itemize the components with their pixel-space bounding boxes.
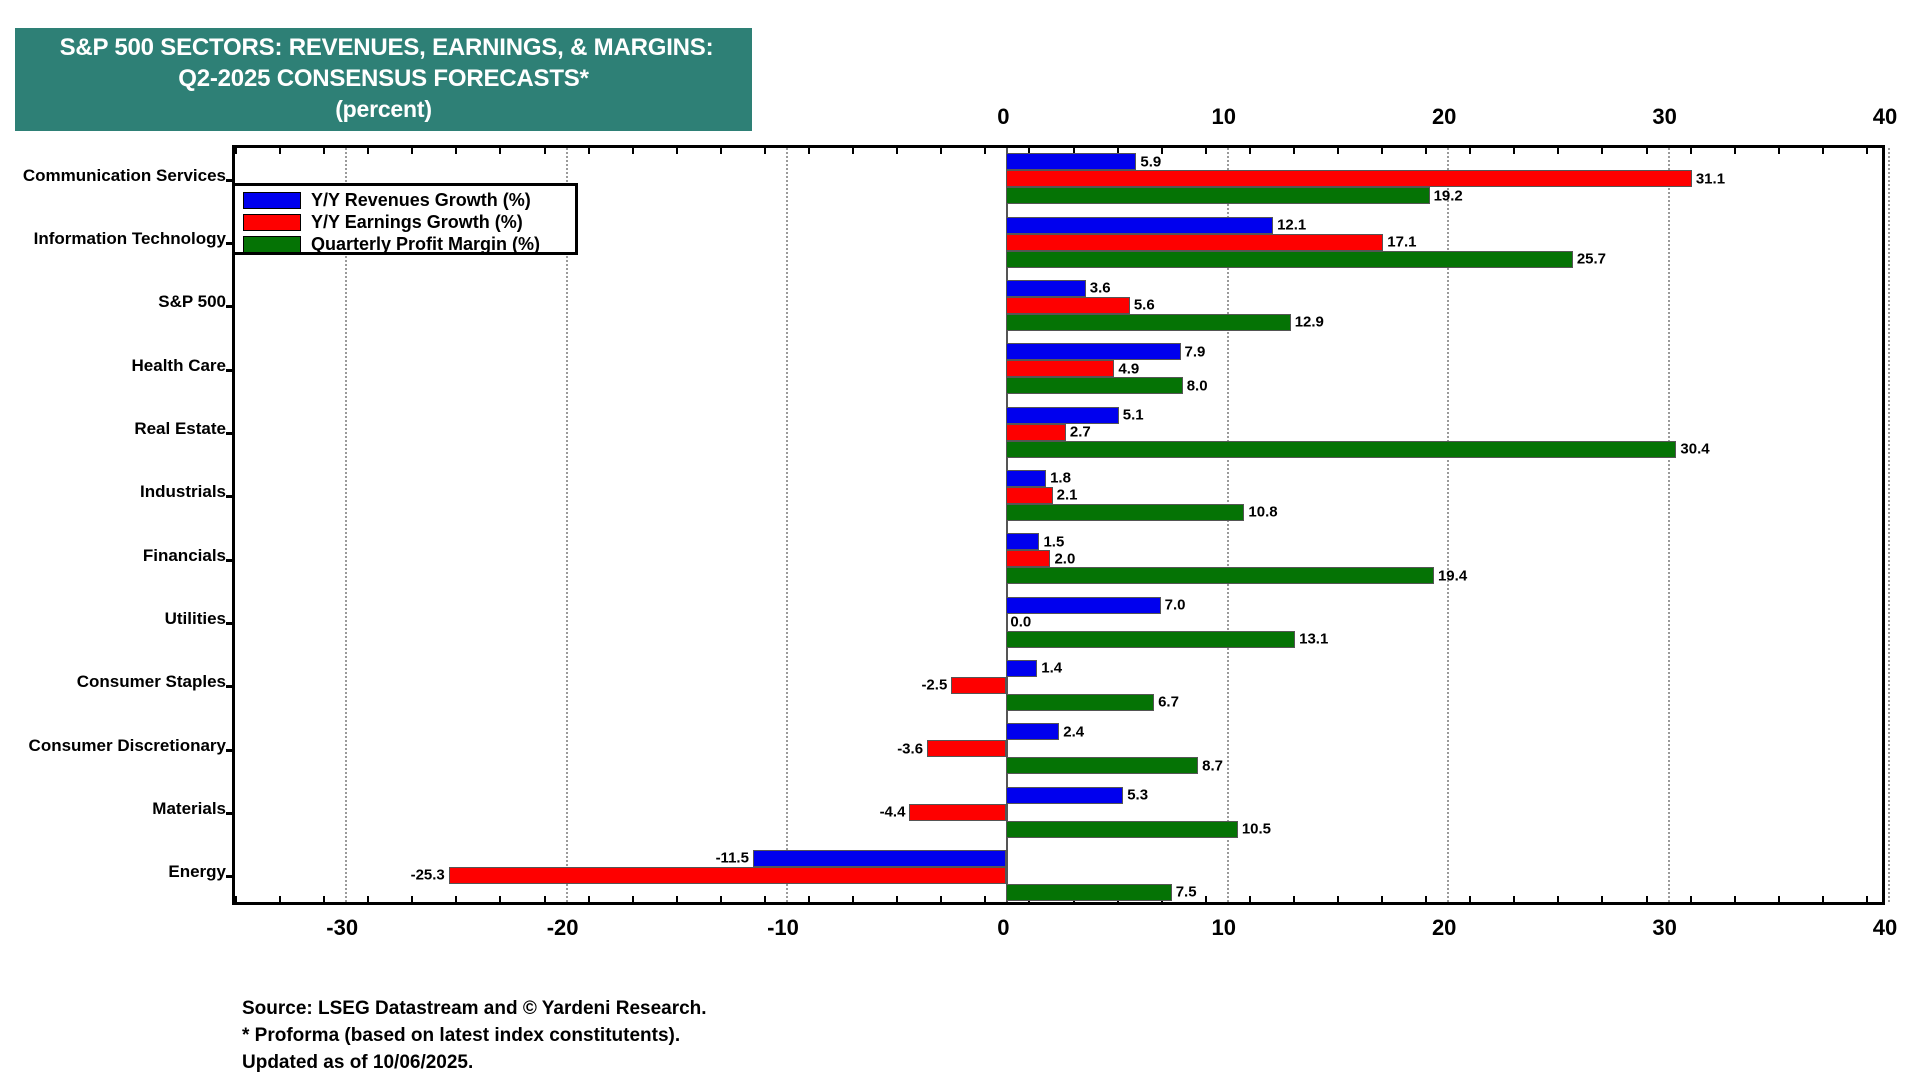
bar-value-earn-1: 17.1 xyxy=(1387,234,1416,251)
bar-rev-5 xyxy=(1006,470,1046,487)
bar-rev-10 xyxy=(1006,787,1123,804)
bar-value-earn-5: 2.1 xyxy=(1057,487,1078,504)
x-tick-top-27 xyxy=(1601,147,1603,154)
x-axis-bottom-label--20: -20 xyxy=(547,915,579,941)
bar-marg-1 xyxy=(1006,251,1572,268)
x-tick-bot--11 xyxy=(764,896,766,903)
bar-rev-8 xyxy=(1006,660,1037,677)
bar-value-earn-4: 2.7 xyxy=(1070,424,1091,441)
bar-value-rev-1: 12.1 xyxy=(1277,217,1306,234)
x-tick-top-15 xyxy=(1337,147,1339,154)
bar-marg-4 xyxy=(1006,441,1676,458)
title-subtitle-percent: (percent) xyxy=(335,94,432,125)
x-tick-top--33 xyxy=(279,147,281,154)
title-line-1: S&P 500 SECTORS: REVENUES, EARNINGS, & M… xyxy=(54,32,714,63)
x-axis-bottom-label-30: 30 xyxy=(1652,915,1676,941)
bar-rev-7 xyxy=(1006,597,1160,614)
bar-earn-8 xyxy=(951,677,1006,694)
category-tick-0 xyxy=(226,179,235,182)
x-tick-top-21 xyxy=(1469,147,1471,154)
category-tick-11 xyxy=(226,875,235,878)
bar-earn-3 xyxy=(1006,360,1114,377)
x-tick-top-9 xyxy=(1205,147,1207,154)
x-tick-bot--9 xyxy=(808,896,810,903)
category-label-financials: Financials xyxy=(0,546,226,566)
x-tick-top--1 xyxy=(984,147,986,154)
bar-marg-9 xyxy=(1006,757,1198,774)
category-tick-5 xyxy=(226,495,235,498)
category-tick-6 xyxy=(226,559,235,562)
bar-rev-3 xyxy=(1006,343,1180,360)
bar-value-earn-10: -4.4 xyxy=(880,804,906,821)
bar-value-rev-2: 3.6 xyxy=(1090,280,1111,297)
bar-earn-0 xyxy=(1006,170,1691,187)
bar-rev-1 xyxy=(1006,217,1273,234)
x-tick-top--35 xyxy=(235,147,237,154)
category-label-health-care: Health Care xyxy=(0,356,226,376)
bar-earn-6 xyxy=(1006,550,1050,567)
x-tick-bot--25 xyxy=(455,896,457,903)
category-tick-4 xyxy=(226,432,235,435)
x-tick-bot--5 xyxy=(896,896,898,903)
x-tick-bot-23 xyxy=(1513,896,1515,903)
bar-value-earn-9: -3.6 xyxy=(897,740,923,757)
bar-value-rev-9: 2.4 xyxy=(1063,723,1084,740)
bar-value-earn-0: 31.1 xyxy=(1696,170,1725,187)
bar-marg-5 xyxy=(1006,504,1244,521)
bar-value-marg-1: 25.7 xyxy=(1577,251,1606,268)
gridline--20 xyxy=(566,148,568,902)
bar-earn-2 xyxy=(1006,297,1129,314)
x-tick-top-35 xyxy=(1778,147,1780,154)
x-tick-top--31 xyxy=(323,147,325,154)
x-tick-bot--1 xyxy=(984,896,986,903)
bar-value-earn-8: -2.5 xyxy=(921,677,947,694)
x-tick-top--15 xyxy=(676,147,678,154)
bar-earn-5 xyxy=(1006,487,1052,504)
category-label-real-estate: Real Estate xyxy=(0,419,226,439)
chart-footer: Source: LSEG Datastream and © Yardeni Re… xyxy=(242,995,1142,1076)
bar-marg-7 xyxy=(1006,631,1295,648)
x-axis-bottom-label-0: 0 xyxy=(997,915,1009,941)
x-tick-top-31 xyxy=(1690,147,1692,154)
category-tick-7 xyxy=(226,622,235,625)
gridline-40 xyxy=(1888,148,1890,902)
gridline--10 xyxy=(786,148,788,902)
x-tick-top--3 xyxy=(940,147,942,154)
category-tick-8 xyxy=(226,685,235,688)
bar-value-rev-8: 1.4 xyxy=(1041,660,1062,677)
x-tick-bot--13 xyxy=(720,896,722,903)
x-tick-top--29 xyxy=(367,147,369,154)
bar-value-marg-5: 10.8 xyxy=(1248,504,1277,521)
bar-value-marg-6: 19.4 xyxy=(1438,567,1467,584)
x-tick-top-11 xyxy=(1249,147,1251,154)
bar-rev-6 xyxy=(1006,533,1039,550)
bar-rev-11 xyxy=(753,850,1006,867)
x-tick-top--19 xyxy=(588,147,590,154)
x-axis-bottom-label-20: 20 xyxy=(1432,915,1456,941)
x-axis-top-label-40: 40 xyxy=(1873,104,1897,130)
bar-earn-7 xyxy=(1006,614,1008,631)
bar-rev-4 xyxy=(1006,407,1118,424)
x-tick-bot-29 xyxy=(1646,896,1648,903)
bar-value-marg-0: 19.2 xyxy=(1434,187,1463,204)
bar-earn-4 xyxy=(1006,424,1066,441)
category-tick-9 xyxy=(226,749,235,752)
x-tick-bot-35 xyxy=(1778,896,1780,903)
bar-rev-2 xyxy=(1006,280,1085,297)
x-tick-bot--35 xyxy=(235,896,237,903)
x-tick-top--9 xyxy=(808,147,810,154)
x-tick-bot-17 xyxy=(1381,896,1383,903)
title-line-2: Q2-2025 CONSENSUS FORECASTS* xyxy=(178,63,589,94)
x-axis-top-label-30: 30 xyxy=(1652,104,1676,130)
x-tick-bot--17 xyxy=(632,896,634,903)
bar-value-earn-2: 5.6 xyxy=(1134,297,1155,314)
category-label-consumer-staples: Consumer Staples xyxy=(0,672,226,692)
x-tick-top-23 xyxy=(1513,147,1515,154)
legend-swatch-margin-icon xyxy=(243,236,301,253)
bar-value-earn-7: 0.0 xyxy=(1010,614,1031,631)
x-tick-top-25 xyxy=(1557,147,1559,154)
x-axis-top-label-0: 0 xyxy=(997,104,1009,130)
x-axis-bottom-label--30: -30 xyxy=(326,915,358,941)
bar-rev-9 xyxy=(1006,723,1059,740)
x-tick-bot--15 xyxy=(676,896,678,903)
bar-value-rev-11: -11.5 xyxy=(716,850,749,867)
x-tick-bot-39 xyxy=(1866,896,1868,903)
category-label-information-technology: Information Technology xyxy=(0,229,226,249)
x-tick-top--5 xyxy=(896,147,898,154)
x-tick-bot-33 xyxy=(1734,896,1736,903)
x-tick-top--21 xyxy=(544,147,546,154)
bar-value-marg-7: 13.1 xyxy=(1299,631,1328,648)
category-tick-3 xyxy=(226,369,235,372)
x-tick-bot--29 xyxy=(367,896,369,903)
x-tick-bot-9 xyxy=(1205,896,1207,903)
x-tick-bot--21 xyxy=(544,896,546,903)
x-tick-top--23 xyxy=(499,147,501,154)
bar-value-rev-3: 7.9 xyxy=(1185,343,1206,360)
bar-value-marg-11: 7.5 xyxy=(1176,884,1197,901)
x-tick-bot--27 xyxy=(411,896,413,903)
bar-value-rev-0: 5.9 xyxy=(1140,153,1161,170)
bar-value-marg-10: 10.5 xyxy=(1242,821,1271,838)
bar-value-rev-4: 5.1 xyxy=(1123,407,1144,424)
bar-marg-0 xyxy=(1006,187,1429,204)
category-label-industrials: Industrials xyxy=(0,482,226,502)
bar-value-marg-2: 12.9 xyxy=(1295,314,1324,331)
x-tick-top-29 xyxy=(1646,147,1648,154)
x-tick-top-13 xyxy=(1293,147,1295,154)
bar-earn-10 xyxy=(909,804,1006,821)
category-label-materials: Materials xyxy=(0,799,226,819)
bar-earn-1 xyxy=(1006,234,1383,251)
x-tick-bot--23 xyxy=(499,896,501,903)
x-axis-top-label-10: 10 xyxy=(1212,104,1236,130)
category-label-consumer-discretionary: Consumer Discretionary xyxy=(0,736,226,756)
bar-value-earn-3: 4.9 xyxy=(1118,360,1139,377)
legend-swatch-earnings-icon xyxy=(243,214,301,231)
bar-marg-11 xyxy=(1006,884,1171,901)
x-tick-top--17 xyxy=(632,147,634,154)
bar-marg-8 xyxy=(1006,694,1154,711)
gridline--30 xyxy=(345,148,347,902)
x-tick-bot-37 xyxy=(1822,896,1824,903)
legend-label-margin: Quarterly Profit Margin (%) xyxy=(311,234,540,255)
footer-source: Source: LSEG Datastream and © Yardeni Re… xyxy=(242,995,1142,1022)
bar-marg-6 xyxy=(1006,567,1434,584)
x-tick-bot--33 xyxy=(279,896,281,903)
x-tick-top-37 xyxy=(1822,147,1824,154)
bar-value-marg-9: 8.7 xyxy=(1202,757,1223,774)
x-axis-top-label-20: 20 xyxy=(1432,104,1456,130)
bar-marg-3 xyxy=(1006,377,1182,394)
category-label-s-p-500: S&P 500 xyxy=(0,292,226,312)
x-axis-bottom-label--10: -10 xyxy=(767,915,799,941)
bar-earn-11 xyxy=(449,867,1007,884)
x-tick-top--25 xyxy=(455,147,457,154)
gridline-30 xyxy=(1668,148,1670,902)
x-tick-bot-21 xyxy=(1469,896,1471,903)
legend-swatch-revenues-icon xyxy=(243,192,301,209)
x-tick-bot-19 xyxy=(1425,896,1427,903)
x-tick-bot-25 xyxy=(1557,896,1559,903)
x-tick-bot--3 xyxy=(940,896,942,903)
category-tick-10 xyxy=(226,812,235,815)
x-tick-top--11 xyxy=(764,147,766,154)
bar-value-rev-10: 5.3 xyxy=(1127,787,1148,804)
category-tick-2 xyxy=(226,305,235,308)
footer-proforma-note: * Proforma (based on latest index consti… xyxy=(242,1022,1142,1049)
x-tick-top-39 xyxy=(1866,147,1868,154)
legend-label-earnings: Y/Y Earnings Growth (%) xyxy=(311,212,523,233)
legend-item-earnings: Y/Y Earnings Growth (%) xyxy=(243,212,569,233)
x-tick-top--7 xyxy=(852,147,854,154)
x-tick-top--13 xyxy=(720,147,722,154)
legend-item-revenues: Y/Y Revenues Growth (%) xyxy=(243,190,569,211)
x-tick-top--27 xyxy=(411,147,413,154)
x-axis-bottom-label-10: 10 xyxy=(1212,915,1236,941)
x-tick-bot-27 xyxy=(1601,896,1603,903)
x-tick-bot-15 xyxy=(1337,896,1339,903)
x-tick-bot--7 xyxy=(852,896,854,903)
bar-value-earn-11: -25.3 xyxy=(411,867,445,884)
chart-legend: Y/Y Revenues Growth (%) Y/Y Earnings Gro… xyxy=(232,183,578,255)
bar-value-rev-6: 1.5 xyxy=(1043,533,1064,550)
x-tick-top-17 xyxy=(1381,147,1383,154)
bar-marg-10 xyxy=(1006,821,1237,838)
plot-area: 5.931.119.212.117.125.73.65.612.97.94.98… xyxy=(232,145,1885,905)
bar-value-marg-4: 30.4 xyxy=(1680,441,1709,458)
category-label-utilities: Utilities xyxy=(0,609,226,629)
bar-earn-9 xyxy=(927,740,1006,757)
x-tick-bot-13 xyxy=(1293,896,1295,903)
footer-updated: Updated as of 10/06/2025. xyxy=(242,1049,1142,1076)
bar-marg-2 xyxy=(1006,314,1290,331)
bar-value-marg-3: 8.0 xyxy=(1187,377,1208,394)
x-tick-bot--31 xyxy=(323,896,325,903)
legend-label-revenues: Y/Y Revenues Growth (%) xyxy=(311,190,531,211)
bar-value-rev-7: 7.0 xyxy=(1165,597,1186,614)
x-tick-top-19 xyxy=(1425,147,1427,154)
x-tick-bot--19 xyxy=(588,896,590,903)
title-banner: S&P 500 SECTORS: REVENUES, EARNINGS, & M… xyxy=(15,28,752,131)
x-axis-bottom-label-40: 40 xyxy=(1873,915,1897,941)
category-label-energy: Energy xyxy=(0,862,226,882)
x-tick-top-33 xyxy=(1734,147,1736,154)
bar-value-rev-5: 1.8 xyxy=(1050,470,1071,487)
legend-item-margin: Quarterly Profit Margin (%) xyxy=(243,234,569,255)
bar-value-earn-6: 2.0 xyxy=(1054,550,1075,567)
x-tick-bot-31 xyxy=(1690,896,1692,903)
bar-rev-0 xyxy=(1006,153,1136,170)
x-tick-bot-11 xyxy=(1249,896,1251,903)
category-label-communication-services: Communication Services xyxy=(0,166,226,186)
bar-value-marg-8: 6.7 xyxy=(1158,694,1179,711)
